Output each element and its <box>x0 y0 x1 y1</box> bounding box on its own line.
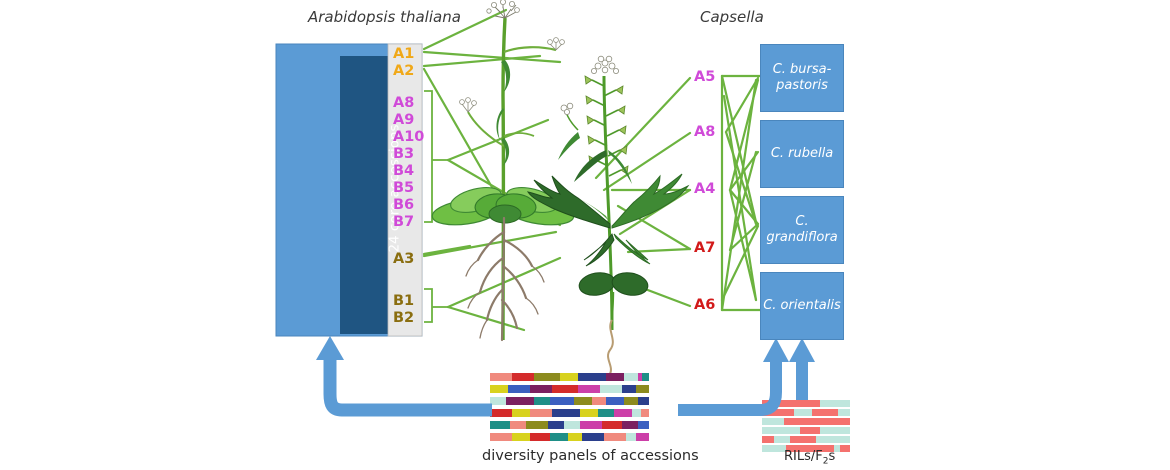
capsella-accession-label-a7: A7 <box>694 240 715 256</box>
species-box-label: C. bursa-pastoris <box>773 62 832 94</box>
species-box-label: C. grandiflora <box>761 214 843 246</box>
diversity-panel-bars <box>490 373 649 441</box>
species-box-c-rubella[interactable]: C. rubella <box>760 120 844 188</box>
core-accessions-box <box>340 56 388 334</box>
capsella-accession-label-a4: A4 <box>694 181 715 197</box>
accession-label-a8: A8 <box>393 95 414 111</box>
capsella-flower-cluster <box>591 56 618 73</box>
diversity-bar <box>490 421 649 429</box>
capsella-seedling <box>577 270 649 374</box>
accession-label-b1: B1 <box>393 293 414 309</box>
arabidopsis-rosette <box>431 183 576 229</box>
accession-label-a2: A2 <box>393 63 414 79</box>
diversity-bar <box>490 409 649 417</box>
arrow-rils-to-orientalis <box>789 338 815 400</box>
diversity-bar <box>490 385 649 393</box>
rils-bar <box>762 436 850 443</box>
species-box-label: C. orientalis <box>763 298 841 314</box>
rils-bar <box>762 409 850 416</box>
bracket-group-olive-b <box>424 289 448 322</box>
accession-label-b3: B3 <box>393 146 414 162</box>
page-title-arabidopsis: Arabidopsis thaliana <box>308 8 461 26</box>
rils-panel-bars <box>762 400 850 452</box>
species-box-c-bursa-pastoris[interactable]: C. bursa-pastoris <box>760 44 844 112</box>
bracket-group-violet <box>424 91 448 222</box>
caption-rils: RILs/F2s <box>784 449 835 467</box>
capsella-plant-illustration <box>528 56 688 374</box>
page-title-capsella: Capsella <box>700 8 764 26</box>
diversity-bar <box>490 397 649 405</box>
capsella-accession-label-a8: A8 <box>694 124 715 140</box>
hapmap-population-label: HapMap population (200 or 314 accessions… <box>93 57 127 337</box>
hapmap-line2: (200 or 314 accessions used) <box>110 57 127 337</box>
hapmap-line1: HapMap population <box>93 57 110 337</box>
species-box-c-orientalis[interactable]: C. orientalis <box>760 272 844 340</box>
capsella-accession-label-a5: A5 <box>694 69 715 85</box>
species-box-label: C. rubella <box>771 146 833 162</box>
accession-label-b5: B5 <box>393 180 414 196</box>
diagram-vector-layer <box>0 0 1170 470</box>
diversity-bar <box>490 373 649 381</box>
accession-label-b6: B6 <box>393 197 414 213</box>
arrow-diversity-to-orientalis <box>678 338 789 410</box>
connector-lines-arabidopsis <box>424 10 560 330</box>
capsella-accession-label-a6: A6 <box>694 297 715 313</box>
accession-label-a9: A9 <box>393 112 414 128</box>
accession-label-a3: A3 <box>393 251 414 267</box>
rils-bar <box>762 400 850 407</box>
species-box-c-grandiflora[interactable]: C. grandiflora <box>760 196 844 264</box>
caption-diversity-panels: diversity panels of accessions <box>482 448 699 464</box>
arrow-diversity-to-hapmap <box>316 336 492 410</box>
arabidopsis-roots <box>478 218 532 340</box>
rils-bar <box>762 427 850 434</box>
diagram-canvas: Arabidopsis thaliana Capsella HapMap pop… <box>0 0 1170 470</box>
accession-label-b4: B4 <box>393 163 414 179</box>
diversity-bar <box>490 433 649 441</box>
rils-subscript: 2 <box>823 457 829 467</box>
connector-lines-capsella-left <box>596 78 690 306</box>
accession-label-a10: A10 <box>393 129 424 145</box>
capsella-network-lines <box>722 76 760 310</box>
accession-label-b2: B2 <box>393 310 414 326</box>
arabidopsis-plant-illustration <box>431 0 576 340</box>
accession-label-b7: B7 <box>393 214 414 230</box>
rils-bar <box>762 418 850 425</box>
accession-label-a1: A1 <box>393 46 414 62</box>
capsella-rosette <box>528 174 688 266</box>
